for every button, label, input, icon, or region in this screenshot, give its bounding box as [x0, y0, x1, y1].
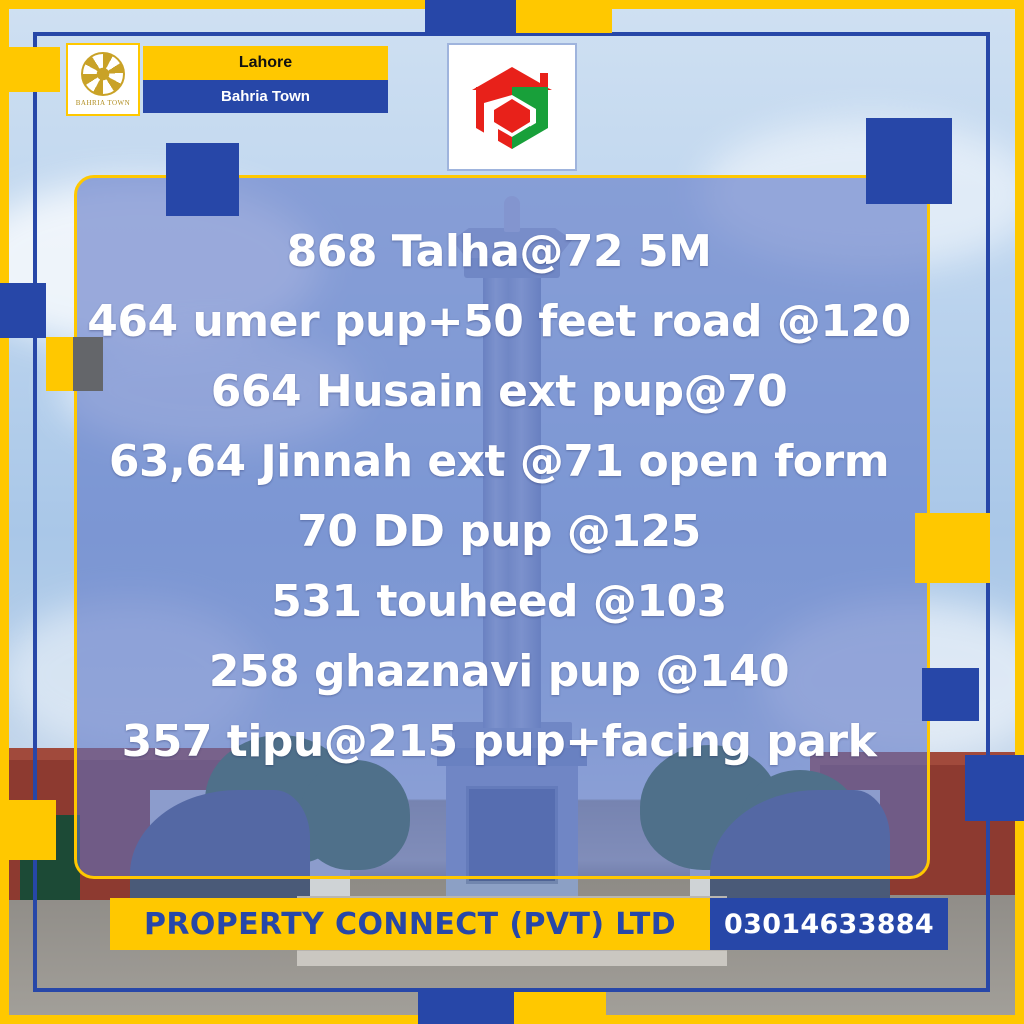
header-society-label: Bahria Town [143, 80, 388, 113]
phone-badge[interactable]: 03014633884 [710, 898, 948, 950]
hexagon-house-p-icon [462, 57, 562, 157]
decor-square-top-yellow [516, 0, 612, 33]
bahria-town-logo: BAHRIA TOWN [66, 43, 140, 116]
decor-square-right-blue-low [965, 755, 1024, 821]
decor-square-right-yellow [915, 513, 990, 583]
listing-line: 357 tipu@215 pup+facing park [74, 720, 924, 764]
decor-square-topleft-blue [166, 143, 239, 216]
company-name-bar: PROPERTY CONNECT (PVT) LTD [110, 898, 710, 950]
listing-block: 868 Talha@72 5M 464 umer pup+50 feet roa… [74, 230, 924, 790]
decor-square-left-yellow [46, 337, 73, 391]
decor-square-right-blue-top [866, 118, 952, 204]
location-header: Lahore Bahria Town [143, 46, 388, 113]
edge-strip-left [0, 0, 9, 1024]
listing-line: 868 Talha@72 5M [74, 230, 924, 274]
property-connect-logo [447, 43, 577, 171]
poster-canvas: BAHRIA TOWN Lahore Bahria Town 868 Talha… [0, 0, 1024, 1024]
decor-square-bottom-yellow [514, 992, 606, 1024]
listing-line: 70 DD pup @125 [74, 510, 924, 554]
listing-line: 63,64 Jinnah ext @71 open form [74, 440, 924, 484]
listing-line: 531 touheed @103 [74, 580, 924, 624]
decor-square-bottom-blue [418, 992, 514, 1024]
listing-line: 258 ghaznavi pup @140 [74, 650, 924, 694]
decor-square-right-blue-mid [922, 668, 979, 721]
decor-square-bottomleft-yellow [0, 800, 56, 860]
listing-line: 464 umer pup+50 feet road @120 [74, 300, 924, 344]
company-name-label: PROPERTY CONNECT (PVT) LTD [144, 907, 676, 942]
phone-number-label: 03014633884 [724, 909, 934, 940]
decor-square-topleft-yellow [0, 47, 60, 92]
header-city-label: Lahore [143, 46, 388, 80]
listing-line: 664 Husain ext pup@70 [74, 370, 924, 414]
bahria-emblem-icon [81, 52, 125, 96]
edge-strip-right [1015, 0, 1024, 1024]
decor-square-left-blue [0, 283, 46, 338]
bahria-logo-caption: BAHRIA TOWN [76, 99, 130, 107]
